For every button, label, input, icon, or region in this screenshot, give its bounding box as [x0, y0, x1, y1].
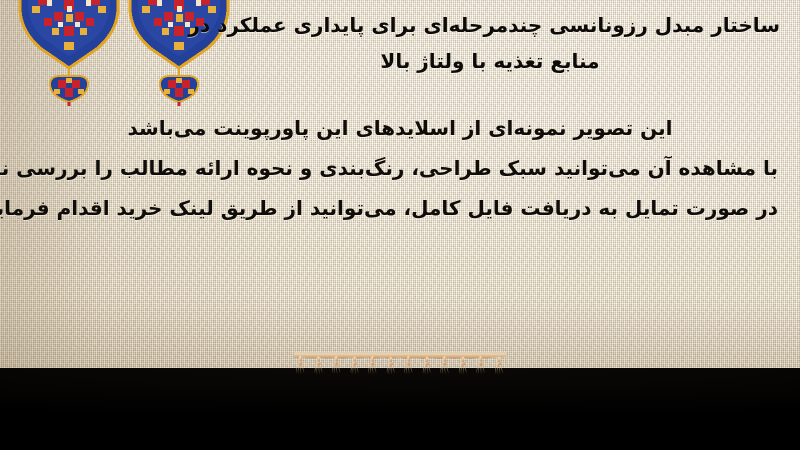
body-line-1: این تصویر نمونه‌ای از اسلایدهای این پاور…	[22, 108, 778, 148]
slide-title: ساختار مبدل رزونانسی چندمرحله‌ای برای پا…	[200, 6, 780, 80]
slide-body: این تصویر نمونه‌ای از اسلایدهای این پاور…	[22, 108, 778, 228]
body-line-3: در صورت تمایل به دریافت فایل کامل، می‌تو…	[22, 188, 778, 228]
title-line-2: منابع تغذیه با ولتاژ بالا	[200, 42, 780, 80]
title-line-1: ساختار مبدل رزونانسی چندمرحله‌ای برای پا…	[200, 6, 780, 44]
carpet-fringe	[0, 352, 800, 450]
body-line-2: با مشاهده آن می‌توانید سبک طراحی، رنگ‌بن…	[22, 148, 778, 188]
fringe-black-field	[0, 368, 800, 450]
text-layer: ساختار مبدل رزونانسی چندمرحله‌ای برای پا…	[0, 0, 800, 380]
slide-canvas: ساختار مبدل رزونانسی چندمرحله‌ای برای پا…	[0, 0, 800, 450]
